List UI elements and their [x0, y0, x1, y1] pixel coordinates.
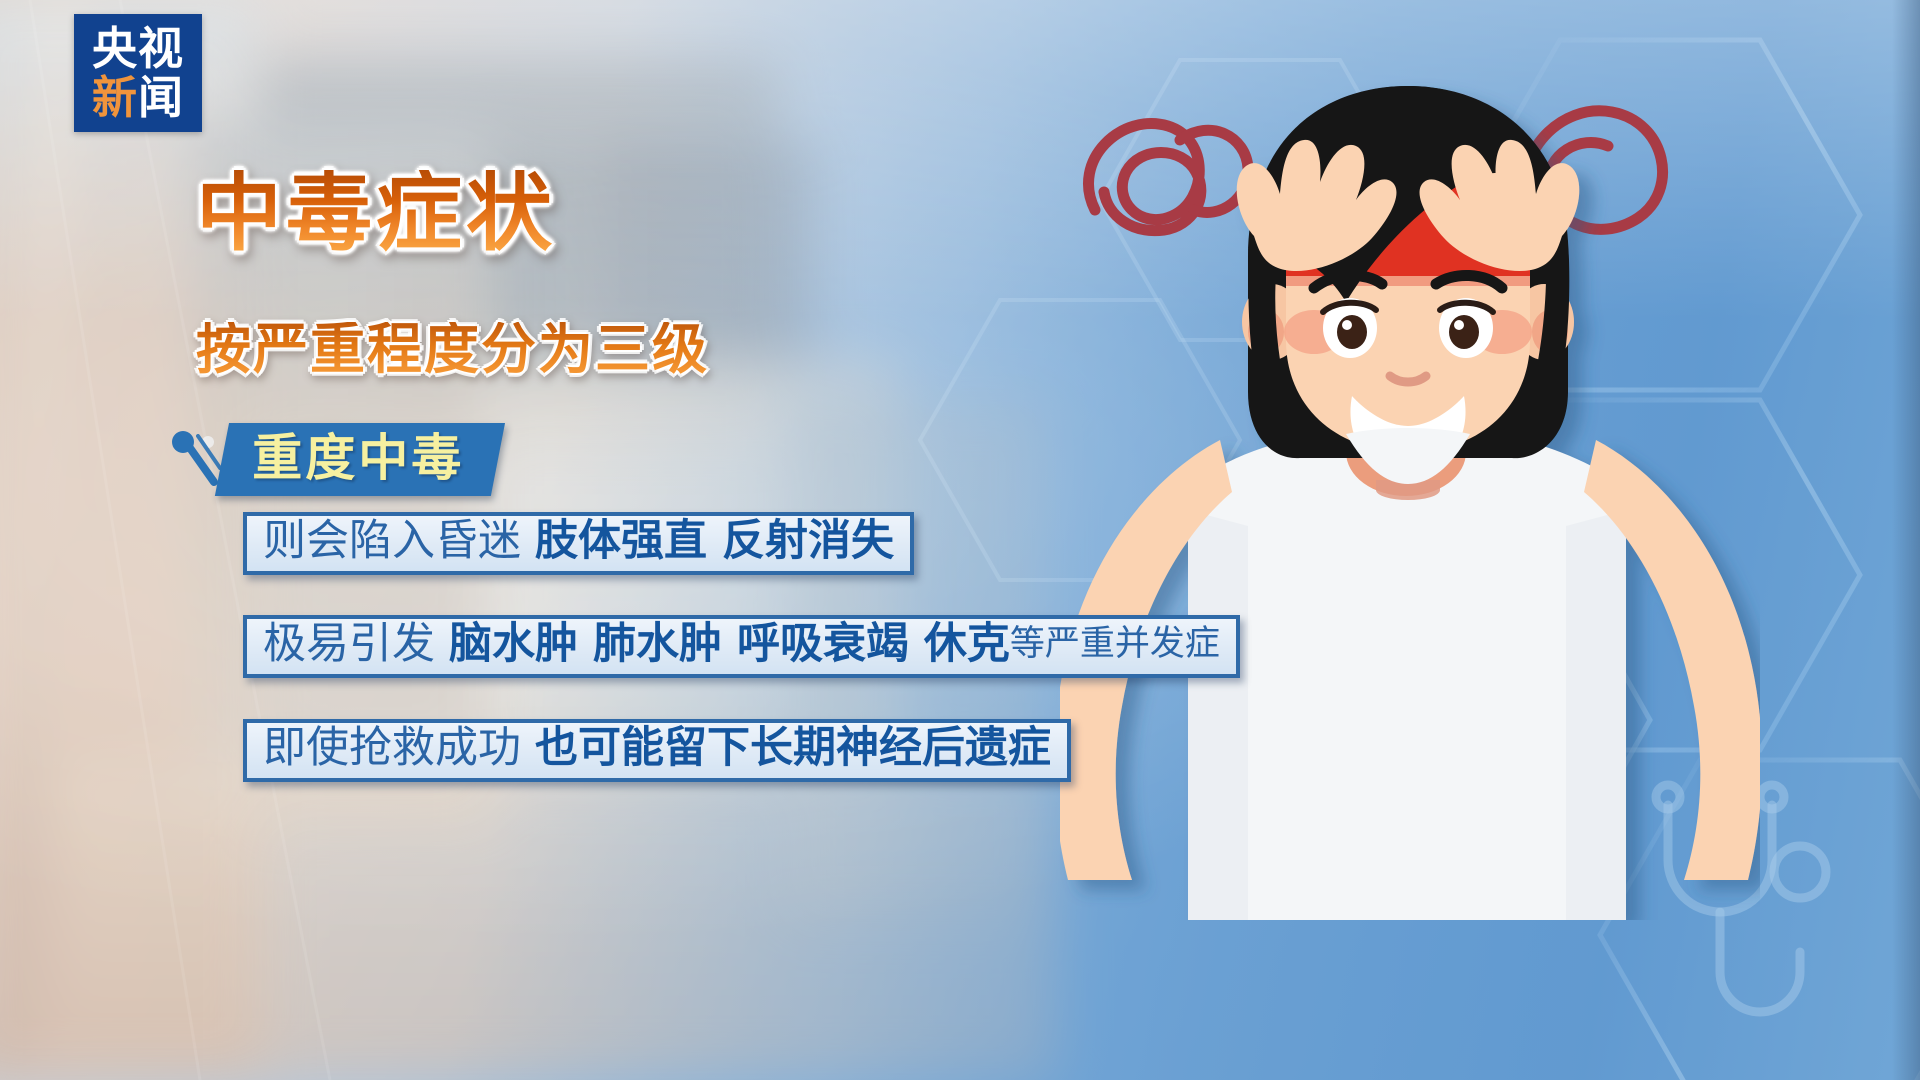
- logo-line-1: 央视: [92, 26, 184, 71]
- logo-line-2-highlight: 新: [92, 75, 138, 120]
- dizzy-scribble-left-icon: [1089, 124, 1249, 231]
- symptom-bar-2: 极易引发 脑水肿 肺水肿 呼吸衰竭 休克 等严重并发症: [243, 615, 1240, 678]
- symptom-lead-1: 则会陷入昏迷: [263, 520, 521, 564]
- shirt: [1188, 432, 1626, 920]
- logo-line-2-rest: 闻: [138, 75, 184, 120]
- symptom-emphasis-1: 肢体强直 反射消失: [535, 520, 894, 564]
- symptom-bar-1: 则会陷入昏迷 肢体强直 反射消失: [243, 512, 914, 575]
- severity-badge-label: 重度中毒: [252, 432, 464, 485]
- right-edge-shade: [1892, 0, 1920, 1080]
- symptom-emphasis-3: 也可能留下长期神经后遗症: [535, 727, 1051, 771]
- symptom-lead-3: 即使抢救成功: [263, 727, 521, 771]
- symptom-bar-3: 即使抢救成功 也可能留下长期神经后遗症: [243, 719, 1071, 782]
- page-title: 中毒症状: [196, 170, 556, 256]
- symptom-lead-2: 极易引发: [263, 623, 435, 667]
- severity-badge-group: 重度中毒: [168, 418, 498, 500]
- illustration-distressed-person: [1060, 40, 1760, 920]
- cctv-news-logo: 央视 新 闻: [74, 14, 202, 132]
- page-subtitle: 按严重程度分为三级: [196, 322, 709, 377]
- status-badge: 重度中毒: [215, 423, 505, 496]
- symptom-emphasis-2: 脑水肿 肺水肿 呼吸衰竭 休克: [449, 623, 1010, 667]
- symptom-trail-2: 等严重并发症: [1010, 627, 1220, 663]
- broadcast-frame: 央视 新 闻 中毒症状 按严重程度分为三级 重度中毒 则会陷入昏迷 肢体强直 反…: [0, 0, 1920, 1080]
